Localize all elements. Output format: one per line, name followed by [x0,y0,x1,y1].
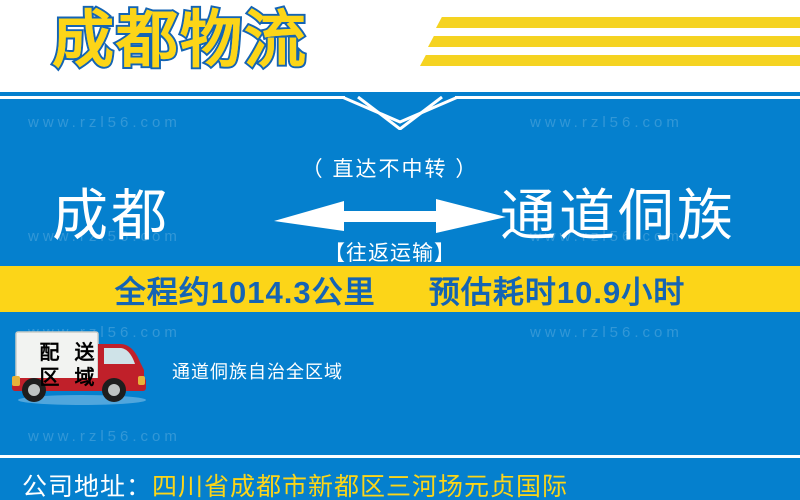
stripe-3 [420,55,800,66]
banner-header: 成都物流 成都物流 [0,0,800,92]
route-note-top: （ 直达不中转 ） [270,155,510,185]
route-note-bottom: 【往返运输】 [270,239,510,269]
decorative-stripes [420,14,800,76]
duration-value: 预估耗时10.9小时 [429,275,685,310]
origin-city: 成都 [52,171,170,261]
delivery-row: 配 送 区 域 通道侗族自治全区域 [0,322,800,432]
company-address: 公司地址：四川省成都市新都区三河场元贞国际 [22,470,568,500]
stats-bar: 全程约1014.3公里 预估耗时10.9小时 [0,266,800,312]
destination-city: 通道侗族 [500,171,736,261]
divider-line-right [455,96,800,99]
address-value: 四川省成都市新都区三河场元贞国际 [152,473,568,500]
delivery-area-text: 通道侗族自治全区域 [172,358,343,384]
stripe-1 [436,17,800,28]
stats-text: 全程约1014.3公里 预估耗时10.9小时 [115,267,685,312]
chevron-down-icon [340,96,460,130]
banner-body: www.rzl56.com www.rzl56.com www.rzl56.co… [0,92,800,500]
top-divider [0,96,800,130]
stripe-2 [428,36,800,47]
logistics-banner: 成都物流 成都物流 www.rzl56.com www.rzl56.com ww… [0,0,800,500]
brand-title-fill: 成都物流 [52,2,308,80]
delivery-truck-icon: 配 送 区 域 [8,326,156,406]
bottom-divider [0,455,800,458]
distance-value: 全程约1014.3公里 [115,275,376,310]
divider-line-left [0,96,345,99]
bidirectional-arrow-icon [270,195,510,235]
address-label: 公司地址： [22,473,152,500]
